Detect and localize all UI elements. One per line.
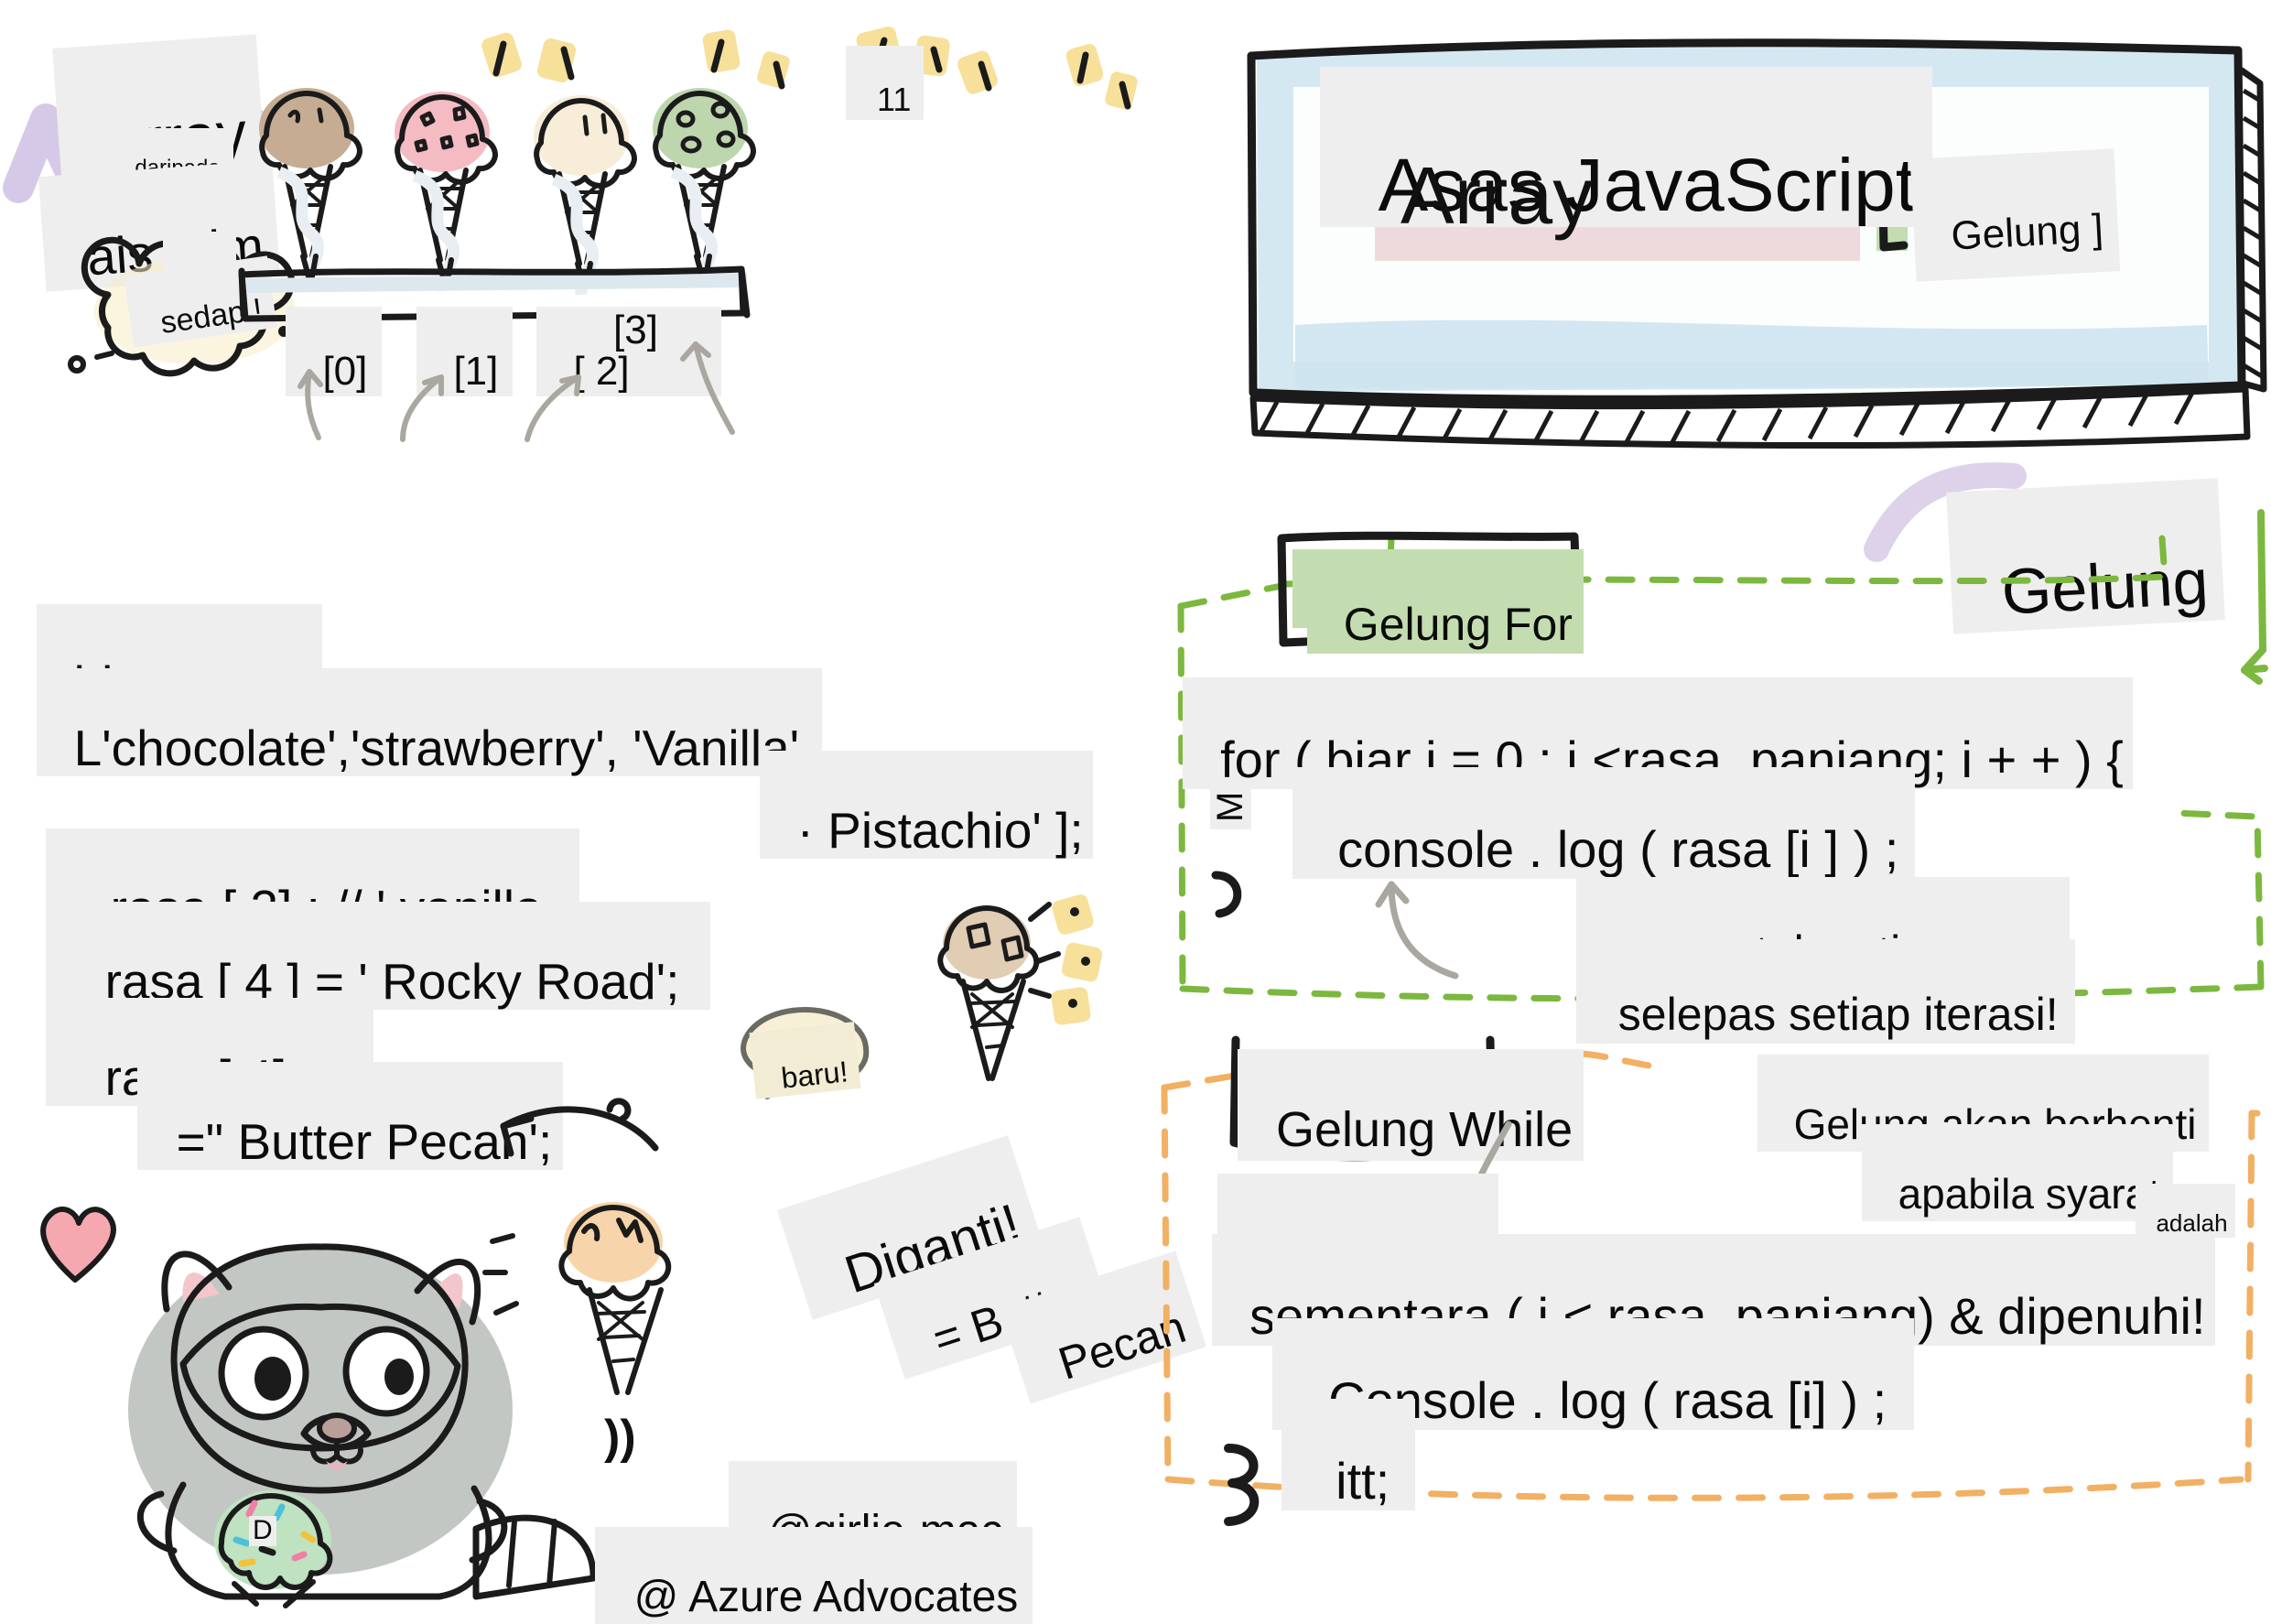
while-note-line-3: adalah [2136, 1184, 2235, 1238]
raccoon-mark: D [249, 1515, 276, 1546]
poster-title-gelung-tag: Gelung ] [1910, 148, 2120, 281]
credit-org: @ Azure Advocates [595, 1527, 1033, 1624]
for-brace-letter: M [1210, 785, 1251, 829]
gelung-for-connector [2233, 513, 2271, 824]
raccoon-illustration [46, 1199, 613, 1602]
baru-label: baru! [749, 1022, 860, 1099]
while-closing-brace [1216, 1443, 1280, 1525]
code-line-values-cont: · Pistachio' ]; [760, 751, 1093, 859]
while-note-line-2: apabila syarat [1862, 1124, 2173, 1221]
new-flavor-cone-illustration [879, 897, 1117, 1099]
for-closing-brace [1206, 870, 1261, 934]
code-line-values: L'chocolate','strawberry', 'Vanilla', [37, 668, 822, 776]
count-label: 11 [846, 46, 924, 120]
for-note-arrow [1355, 861, 1483, 989]
code-line-assign: rasa [ 4 ] = ' Rocky Road'; [46, 902, 710, 1010]
index-pointer-arrows [265, 330, 760, 449]
gelung-for-label: Gelung For [1307, 549, 1584, 654]
while-code-line-4: itt; [1281, 1399, 1415, 1510]
poster-title-line2: Array [1375, 149, 1618, 243]
for-note-line-2: selepas setiap iterasi! [1576, 939, 2075, 1044]
